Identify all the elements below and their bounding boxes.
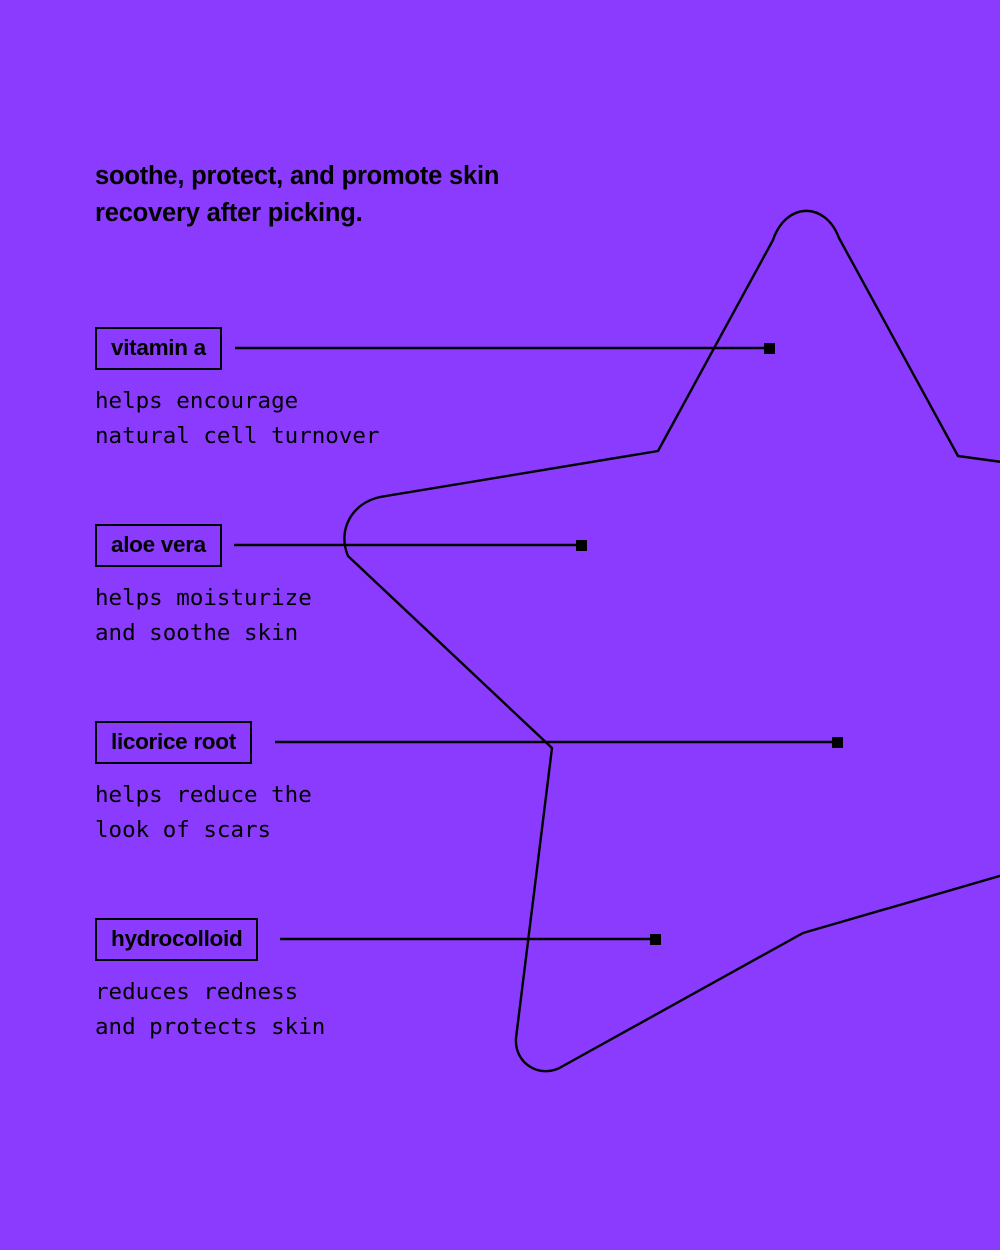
callout-desc-line-1: reduces redness [95,975,325,1010]
callout-box-aloe-vera[interactable]: aloe vera [95,524,222,567]
callout-aloe-vera: aloe vera helps moisturize and soothe sk… [95,524,312,651]
callout-desc-line-1: helps encourage [95,384,379,419]
callout-licorice-root: licorice root helps reduce the look of s… [95,721,312,848]
callout-desc-line-2: and soothe skin [95,616,312,651]
leader-endpoint-licorice-root [832,737,843,748]
callout-box-hydrocolloid[interactable]: hydrocolloid [95,918,258,961]
leader-endpoint-aloe-vera [576,540,587,551]
callout-hydrocolloid: hydrocolloid reduces redness and protect… [95,918,325,1045]
callout-desc-line-1: helps reduce the [95,778,312,813]
callout-description-vitamin-a: helps encourage natural cell turnover [95,384,379,454]
callout-vitamin-a: vitamin a helps encourage natural cell t… [95,327,379,454]
callout-desc-line-2: look of scars [95,813,312,848]
callout-description-licorice-root: helps reduce the look of scars [95,778,312,848]
callout-desc-line-2: and protects skin [95,1010,325,1045]
poster-canvas: soothe, protect, and promote skin recove… [0,0,1000,1250]
callout-label-hydrocolloid: hydrocolloid [111,926,242,951]
callout-description-hydrocolloid: reduces redness and protects skin [95,975,325,1045]
leader-endpoint-hydrocolloid [650,934,661,945]
headline-line-2: recovery after picking. [95,195,565,232]
callout-box-vitamin-a[interactable]: vitamin a [95,327,222,370]
callout-desc-line-2: natural cell turnover [95,419,379,454]
leader-endpoint-vitamin-a [764,343,775,354]
callout-description-aloe-vera: helps moisturize and soothe skin [95,581,312,651]
callout-box-licorice-root[interactable]: licorice root [95,721,252,764]
callout-label-vitamin-a: vitamin a [111,335,206,360]
callout-desc-line-1: helps moisturize [95,581,312,616]
star-outline-path [344,211,1000,1071]
callout-label-licorice-root: licorice root [111,729,236,754]
headline: soothe, protect, and promote skin recove… [95,158,565,232]
headline-line-1: soothe, protect, and promote skin [95,158,565,195]
callout-label-aloe-vera: aloe vera [111,532,206,557]
